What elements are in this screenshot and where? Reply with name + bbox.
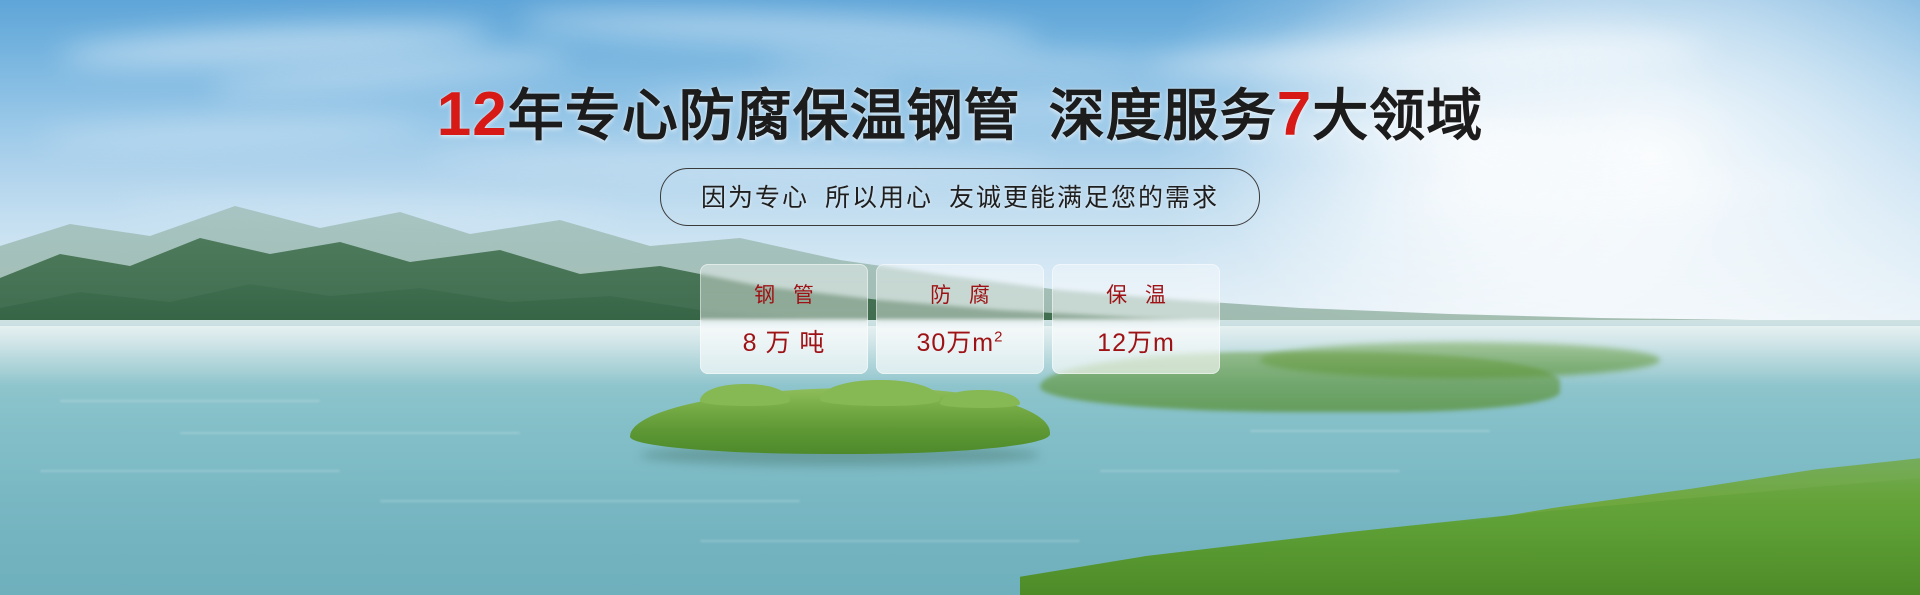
stat-card-value-text: 8 万 吨 [743, 329, 826, 357]
stat-cards: 钢 管 8 万 吨 防 腐 30万m2 保 温 12万m [0, 264, 1920, 374]
subtitle-part-3: 友诚更能满足您的需求 [949, 184, 1219, 212]
stat-card-insulation[interactable]: 保 温 12万m [1052, 264, 1220, 374]
stat-card-value: 12万m [1097, 323, 1175, 359]
promo-banner: 12年专心防腐保温钢管深度服务7大领域 因为专心所以用心友诚更能满足您的需求 钢… [0, 0, 1920, 595]
subtitle-container: 因为专心所以用心友诚更能满足您的需求 [0, 168, 1920, 226]
headline-fields-number: 7 [1277, 80, 1312, 149]
stat-card-value-text: 30万m [917, 329, 995, 357]
stat-card-title: 防 腐 [924, 279, 996, 309]
headline-text-tertiary: 大领域 [1312, 84, 1483, 147]
stat-card-title: 钢 管 [748, 279, 820, 309]
subtitle-pill: 因为专心所以用心友诚更能满足您的需求 [660, 168, 1260, 226]
headline-years-number: 12 [437, 80, 508, 149]
subtitle-part-1: 因为专心 [701, 184, 809, 212]
stat-card-value: 30万m2 [917, 323, 1004, 359]
stat-card-value-text: 12万m [1097, 329, 1175, 357]
page-title: 12年专心防腐保温钢管深度服务7大领域 [0, 84, 1920, 146]
headline-text-secondary: 深度服务 [1049, 84, 1277, 147]
subtitle-part-2: 所以用心 [825, 184, 933, 212]
stat-card-unit-superscript: 2 [994, 329, 1003, 346]
headline-text-primary: 年专心防腐保温钢管 [508, 84, 1021, 147]
stat-card-steel-pipe[interactable]: 钢 管 8 万 吨 [700, 264, 868, 374]
stat-card-value: 8 万 吨 [743, 323, 826, 359]
stat-card-anticorrosion[interactable]: 防 腐 30万m2 [876, 264, 1044, 374]
stat-card-title: 保 温 [1100, 279, 1172, 309]
